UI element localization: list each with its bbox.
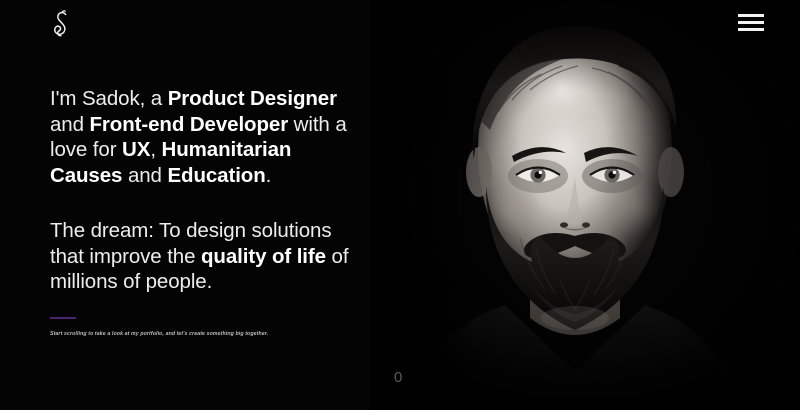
hamburger-bar-1 (738, 14, 764, 17)
hamburger-bar-3 (738, 28, 764, 31)
hero-intro-paragraph: I'm Sadok, a Product Designer and Front-… (50, 86, 350, 188)
accent-divider (50, 317, 76, 319)
site-logo[interactable] (46, 9, 76, 41)
slide-counter: 0 (394, 370, 402, 385)
hero-content: I'm Sadok, a Product Designer and Front-… (50, 86, 350, 338)
portrait-photo (370, 0, 800, 410)
hero-dream-paragraph: The dream: To design solutions that impr… (50, 218, 350, 295)
portrait-illustration (370, 0, 800, 410)
monogram-s-icon (46, 9, 76, 41)
hamburger-bar-2 (738, 21, 764, 24)
scroll-hint-text: Start scrolling to take a look at my por… (50, 330, 350, 338)
hero-page: I'm Sadok, a Product Designer and Front-… (0, 0, 800, 410)
hamburger-menu-icon[interactable] (738, 14, 764, 31)
